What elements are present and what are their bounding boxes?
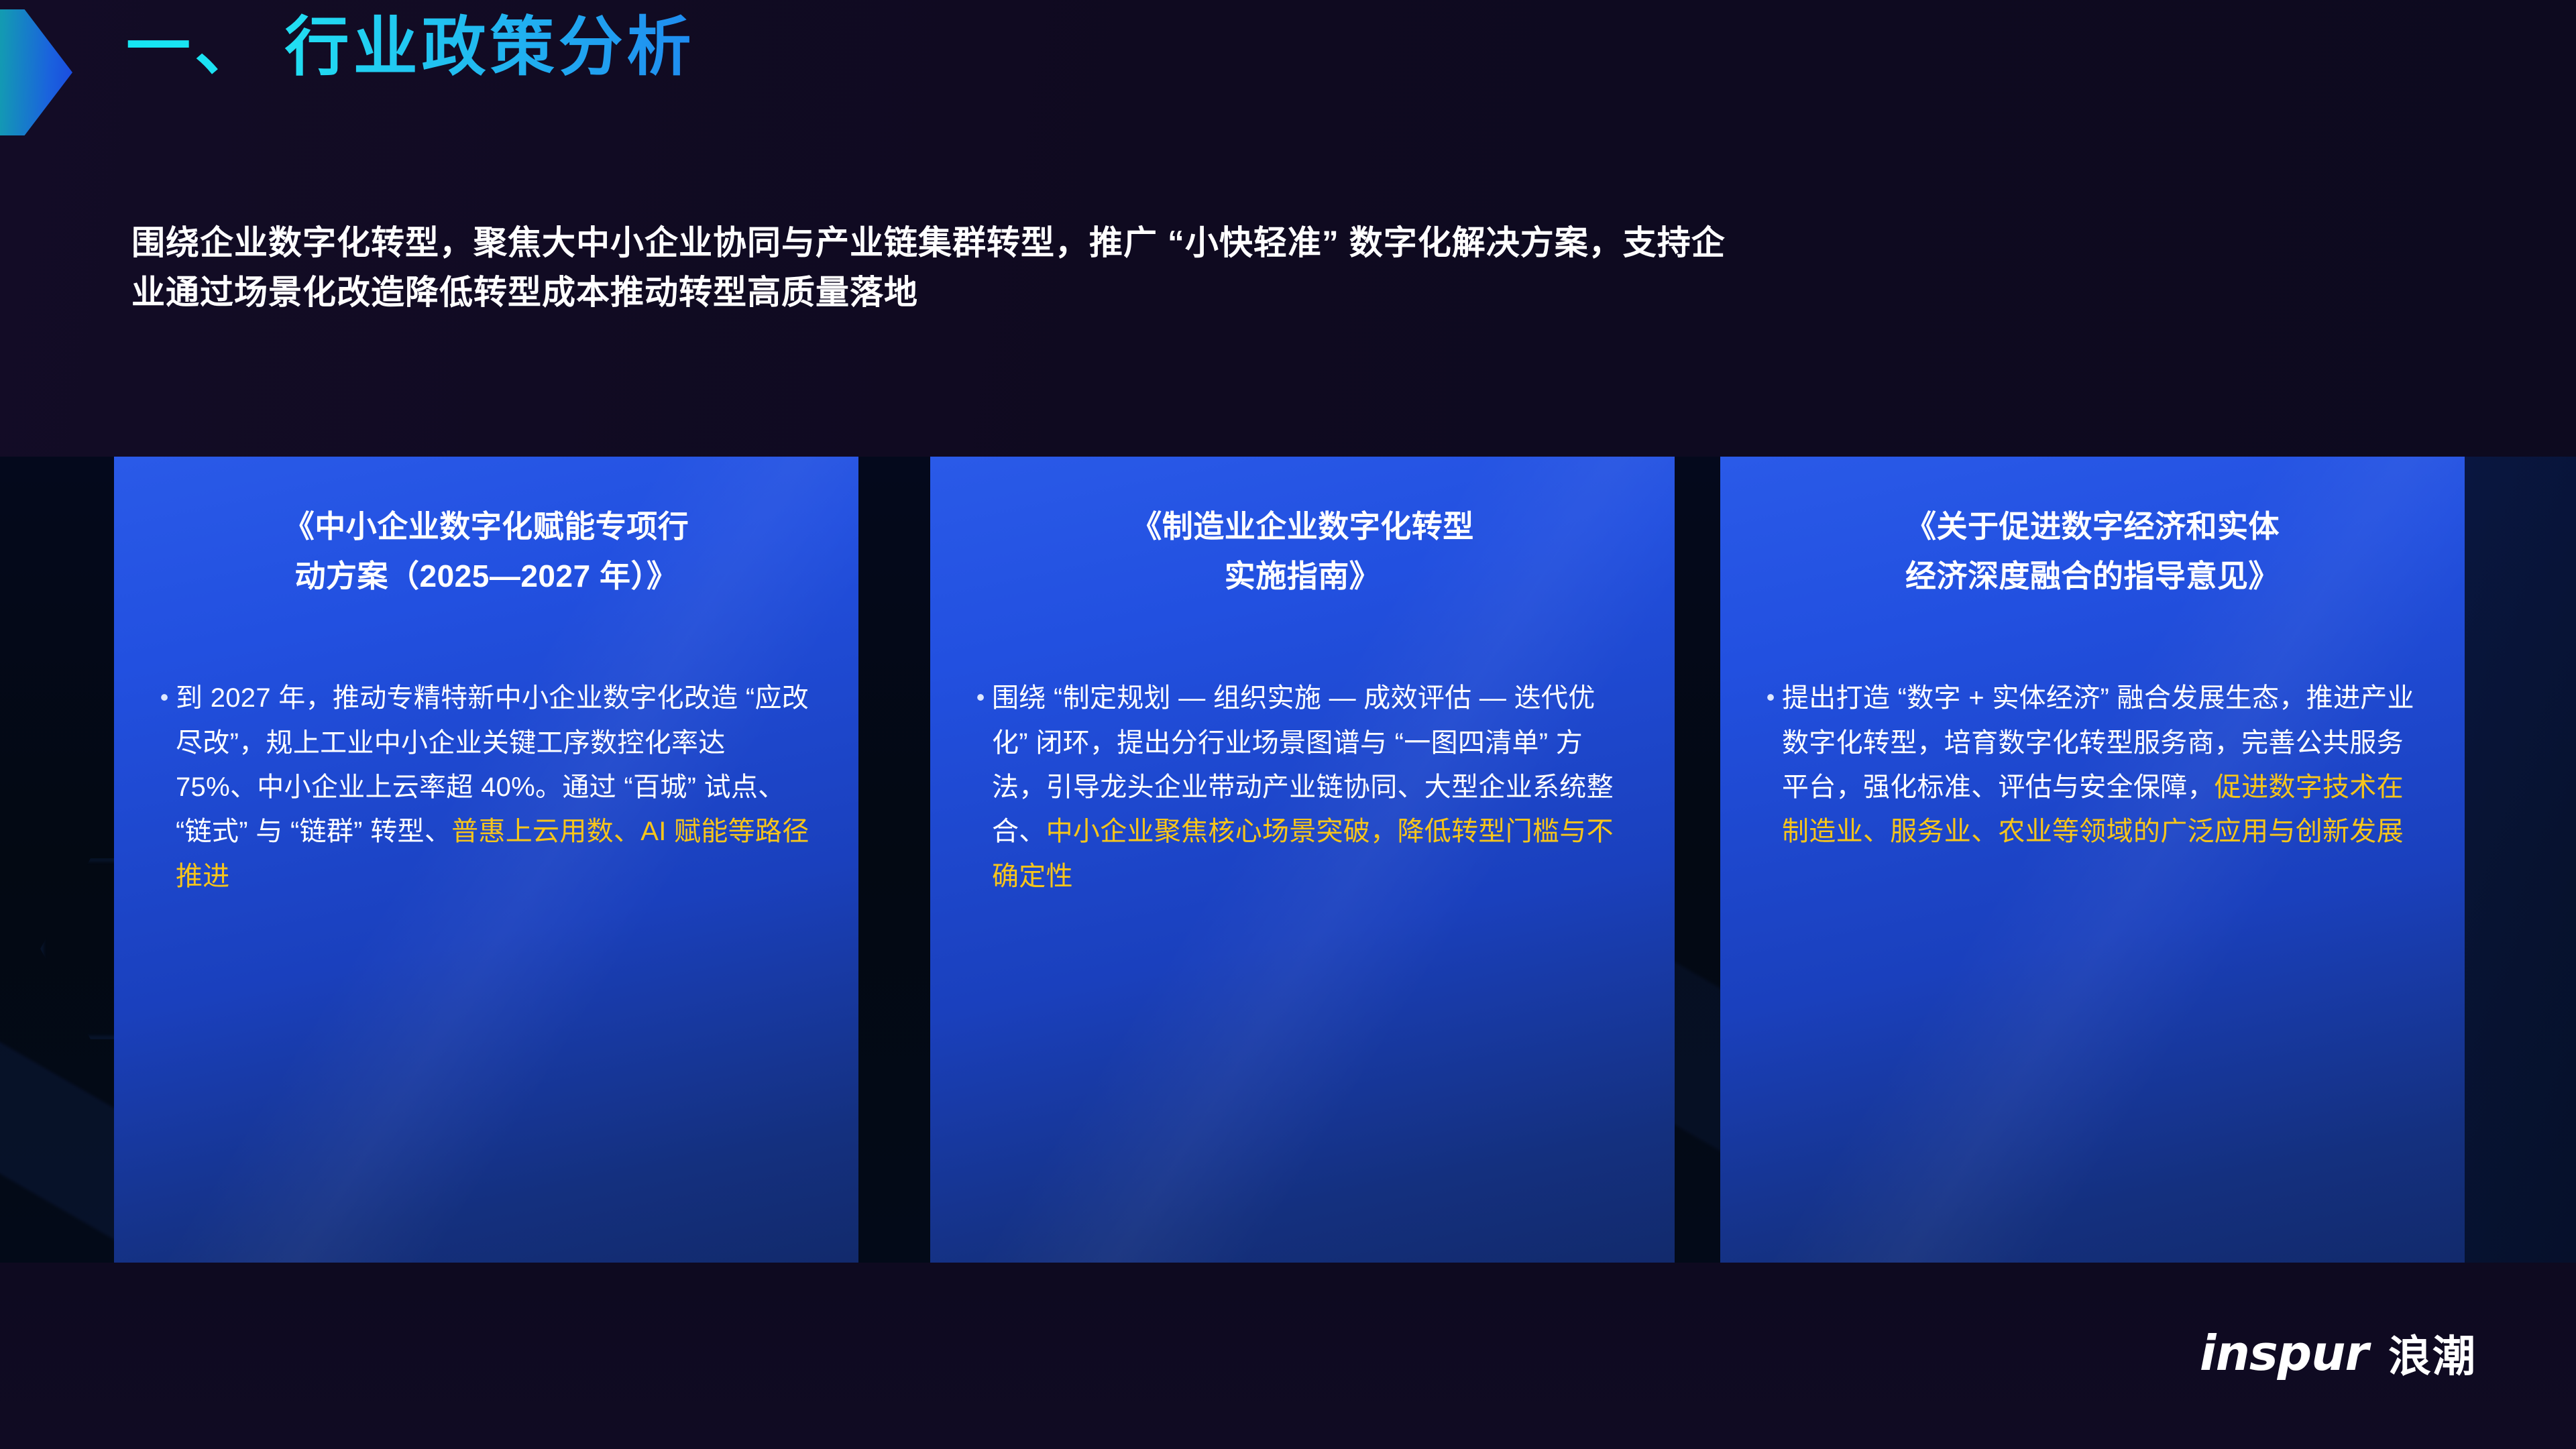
policy-card-body-highlight: 中小企业聚焦核心场景突破，降低转型门槛与不确定性 (992, 817, 1614, 890)
brand-logo: inspur 浪潮 (2200, 1322, 2477, 1384)
bullet-dot-icon: • (969, 676, 992, 899)
policy-card-body: 围绕 “制定规划 — 组织实施 — 成效评估 — 迭代优化” 闭环，提出分行业场… (992, 676, 1630, 899)
policy-card-bullet: • 提出打造 “数字 + 实体经济” 融合发展生态，推进产业数字化转型，培育数字… (1759, 676, 2420, 854)
policy-card-body: 提出打造 “数字 + 实体经济” 融合发展生态，推进产业数字化转型，培育数字化转… (1782, 676, 2420, 854)
policy-card[interactable]: 《制造业企业数字化转型 实施指南》 • 围绕 “制定规划 — 组织实施 — 成效… (930, 457, 1675, 1263)
policy-card-title: 《中小企业数字化赋能专项行 动方案（2025—2027 年）》 (166, 502, 807, 601)
policy-card-bullet: • 围绕 “制定规划 — 组织实施 — 成效评估 — 迭代优化” 闭环，提出分行… (969, 676, 1630, 899)
page-title: 一、 行业政策分析 (126, 12, 695, 83)
section-summary-line-2: 业通过场景化改造降低转型成本推动转型高质量落地 (131, 268, 2365, 317)
brand-logo-wordmark: inspur (2200, 1325, 2368, 1381)
bullet-dot-icon: • (1759, 676, 1782, 854)
policy-card-title-line-1: 《制造业企业数字化转型 (983, 502, 1623, 552)
policy-card-title-line-1: 《关于促进数字经济和实体 (1773, 502, 2413, 552)
slide-canvas: 一、 行业政策分析 围绕企业数字化转型，聚焦大中小企业协同与产业链集群转型，推广… (0, 0, 2576, 1449)
policy-card-list: 《中小企业数字化赋能专项行 动方案（2025—2027 年）》 • 到 2027… (0, 457, 2576, 1263)
policy-card-bullet: • 到 2027 年，推动专精特新中小企业数字化改造 “应改尽改”，规上工业中小… (153, 676, 814, 899)
section-summary-line-1: 围绕企业数字化转型，聚焦大中小企业协同与产业链集群转型，推广 “小快轻准” 数字… (131, 218, 2365, 268)
policy-card[interactable]: 《关于促进数字经济和实体 经济深度融合的指导意见》 • 提出打造 “数字 + 实… (1720, 457, 2465, 1263)
section-summary: 围绕企业数字化转型，聚焦大中小企业协同与产业链集群转型，推广 “小快轻准” 数字… (131, 218, 2365, 317)
policy-card-body: 到 2027 年，推动专精特新中小企业数字化改造 “应改尽改”，规上工业中小企业… (176, 676, 814, 899)
policy-card-title-line-1: 《中小企业数字化赋能专项行 (166, 502, 807, 552)
background-band-bottom (0, 1263, 2576, 1449)
policy-card-title: 《关于促进数字经济和实体 经济深度融合的指导意见》 (1773, 502, 2413, 601)
policy-card-title: 《制造业企业数字化转型 实施指南》 (983, 502, 1623, 601)
policy-card-title-line-2: 动方案（2025—2027 年）》 (166, 552, 807, 601)
policy-card-title-line-2: 实施指南》 (983, 552, 1623, 601)
brand-logo-chinese: 浪潮 (2388, 1322, 2477, 1384)
policy-card-title-line-2: 经济深度融合的指导意见》 (1773, 552, 2413, 601)
policy-card[interactable]: 《中小企业数字化赋能专项行 动方案（2025—2027 年）》 • 到 2027… (114, 457, 858, 1263)
bullet-dot-icon: • (153, 676, 176, 899)
